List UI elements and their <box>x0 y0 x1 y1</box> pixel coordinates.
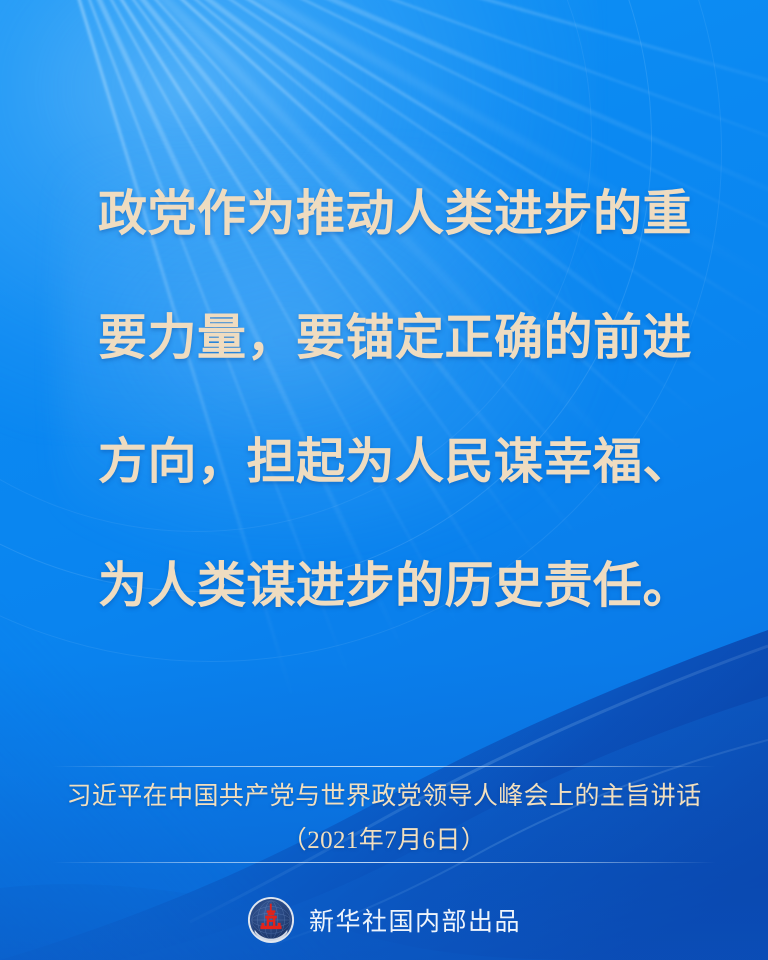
poster-canvas: 政党作为推动人类进步的重 要力量，要锚定正确的前进 方向，担起为人民谋幸福、 为… <box>0 0 768 960</box>
xinhua-logo-icon: XINHUA <box>247 896 295 944</box>
quote-line: 为人类谋进步的历史责任。 <box>98 524 698 648</box>
quote-line: 政党作为推动人类进步的重 <box>98 152 698 276</box>
attribution-speech: 习近平在中国共产党与世界政党领导人峰会上的主旨讲话 <box>0 776 768 812</box>
footer-publisher-label: 新华社国内部出品 <box>309 902 521 938</box>
quote-line: 要力量，要锚定正确的前进 <box>98 276 698 400</box>
quote-block: 政党作为推动人类进步的重 要力量，要锚定正确的前进 方向，担起为人民谋幸福、 为… <box>0 152 768 648</box>
divider-bottom <box>52 862 716 863</box>
divider-top <box>52 766 716 767</box>
footer-bar: XINHUA 新华社国内部出品 <box>0 896 768 944</box>
quote-line: 方向，担起为人民谋幸福、 <box>98 400 698 524</box>
attribution-date: （2021年7月6日） <box>0 820 768 856</box>
poster-content: 政党作为推动人类进步的重 要力量，要锚定正确的前进 方向，担起为人民谋幸福、 为… <box>0 0 768 960</box>
svg-text:XINHUA: XINHUA <box>264 932 279 936</box>
